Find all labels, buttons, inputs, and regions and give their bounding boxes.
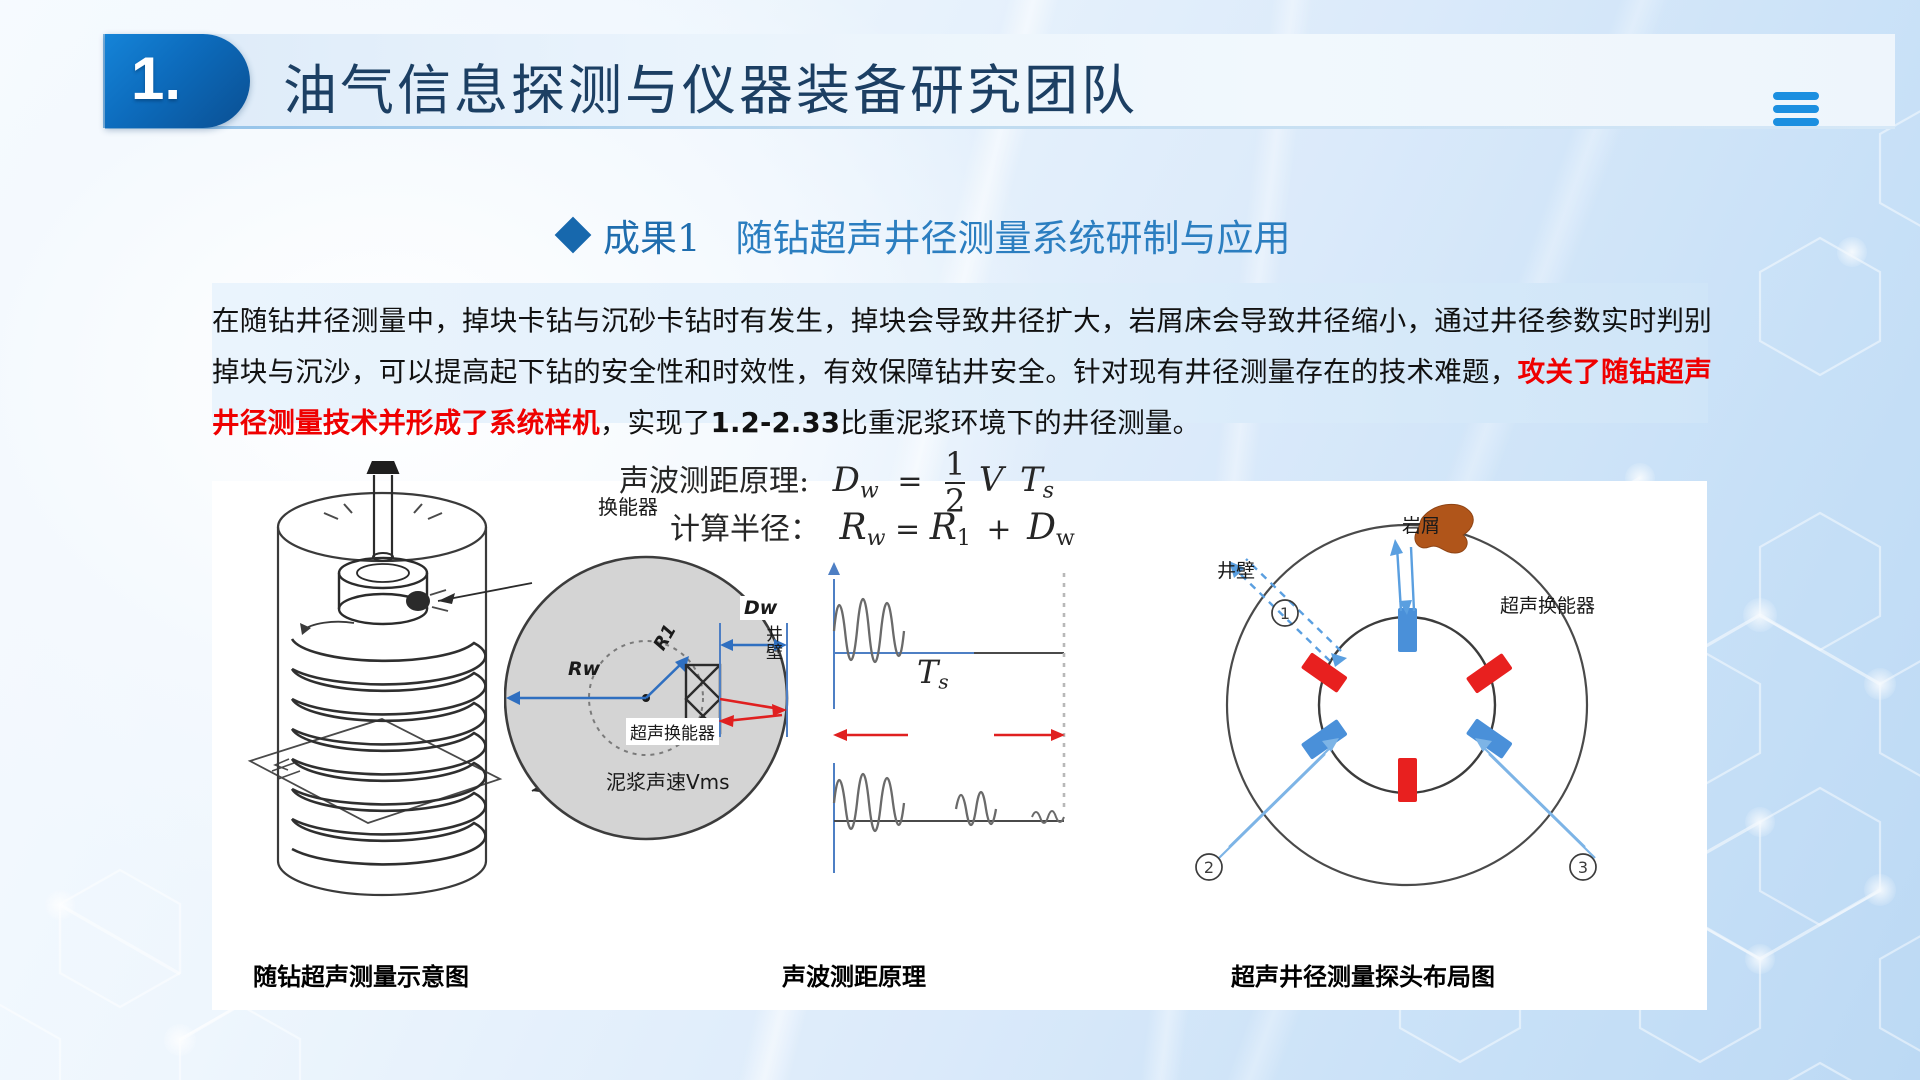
subtitle-prefix: 成果1	[603, 208, 701, 262]
formula1-lhs: D	[833, 460, 860, 500]
svg-text:2: 2	[1204, 858, 1214, 877]
panel3-label-cuttings: 岩屑	[1402, 511, 1440, 538]
hamburger-menu-icon[interactable]	[1773, 92, 1819, 126]
figure-container: 声波测距原理: Dw = 1 2 V Ts 计算半径： Rw = R1 + Dw	[212, 481, 1707, 1010]
page-title: 油气信息探测与仪器装备研究团队	[283, 46, 1138, 125]
formula1-time-sub: s	[1043, 478, 1054, 503]
panel3-label-borehole-wall: 井壁	[1217, 556, 1255, 583]
panel2-ts-symbol: T	[917, 653, 938, 691]
body-number: 1.2-2.33	[711, 407, 841, 439]
panel2-ts-subscript: s	[938, 670, 948, 694]
svg-text:1: 1	[1280, 604, 1290, 623]
menu-bar-1	[1773, 92, 1819, 100]
panel2-label-dw: Dw	[740, 596, 781, 620]
menu-bar-3	[1773, 118, 1819, 126]
menu-bar-2	[1773, 105, 1819, 113]
panel2-caption: 声波测距原理	[782, 957, 926, 992]
body-segment-1: 在随钻井径测量中，掉块卡钻与沉砂卡钻时有发生，掉块会导致井径扩大，岩屑床会导致井…	[212, 305, 1712, 388]
section-number-text: 1.	[105, 49, 181, 109]
panel1-caption: 随钻超声测量示意图	[253, 957, 469, 992]
subtitle-row: 成果1 随钻超声井径测量系统研制与应用	[560, 210, 1291, 260]
formula1-time: T	[1020, 460, 1043, 500]
panel2-label-rw: Rw	[568, 658, 600, 680]
formula1-velocity: V	[979, 460, 1004, 500]
body-paragraph: 在随钻井径测量中，掉块卡钻与沉砂卡钻时有发生，掉块会导致井径扩大，岩屑床会导致井…	[212, 296, 1712, 449]
panel3-caption: 超声井径测量探头布局图	[1231, 957, 1495, 992]
panel2-label-ts: Ts	[917, 653, 949, 694]
formula1-lhs-sub: w	[860, 478, 879, 503]
section-number-badge: 1.	[105, 34, 250, 128]
subtitle-text: 随钻超声井径测量系统研制与应用	[736, 208, 1291, 262]
body-segment-2: ，实现了	[600, 407, 711, 439]
svg-text:3: 3	[1578, 858, 1588, 877]
panel3-label-transducer: 超声换能器	[1500, 591, 1595, 618]
panel2-acoustic-ranging-diagram	[504, 513, 1124, 893]
panel2-label-transducer: 超声换能器	[626, 718, 719, 745]
panel2-label-mud-velocity: 泥浆声速Vms	[606, 766, 730, 795]
formula1-numerator: 1	[945, 445, 965, 483]
header-divider-rule	[105, 126, 1895, 129]
panel2-label-wall: 井壁	[766, 626, 782, 662]
formula1-equals: =	[897, 464, 922, 499]
diamond-bullet-icon	[555, 217, 592, 254]
body-segment-3: 比重泥浆环境下的井径测量。	[840, 407, 1200, 439]
page-header: 1. 油气信息探测与仪器装备研究团队	[0, 0, 1920, 152]
